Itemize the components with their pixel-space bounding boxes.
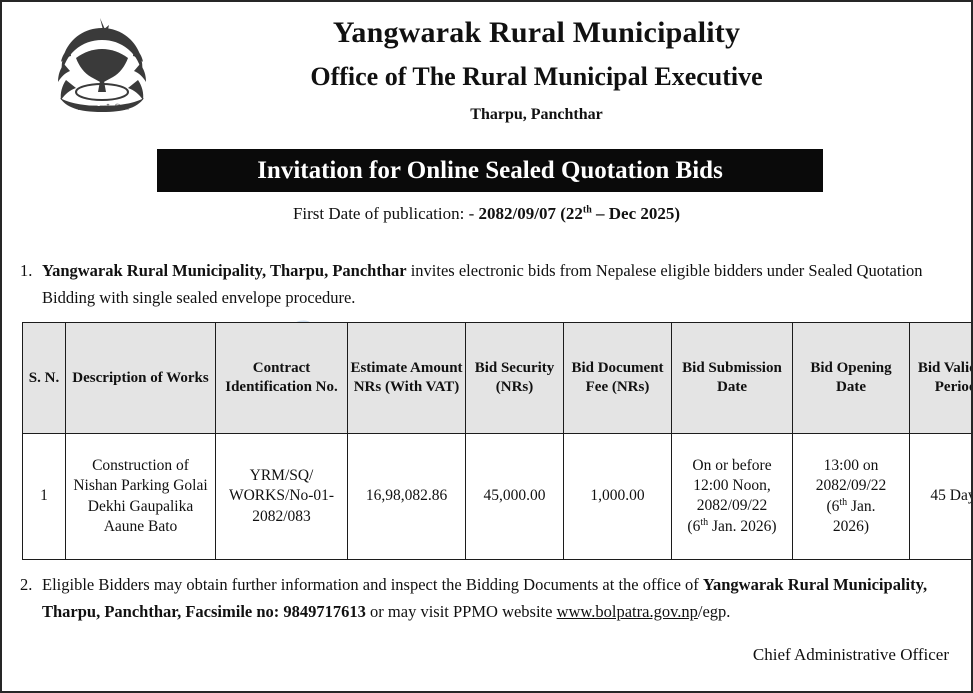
opening-line-1: 13:00 on (824, 457, 879, 474)
publication-date-bs: 2082/09/07 (22 (479, 204, 583, 223)
header-sn: S. N. (23, 323, 66, 434)
cell-document-fee: 1,000.00 (564, 434, 672, 560)
submission-line-1: On or before (692, 457, 771, 474)
submission-line-2: 12:00 Noon, (693, 477, 771, 494)
cell-sn: 1 (23, 434, 66, 560)
bids-table-wrapper: S. N. Description of Works Contract Iden… (22, 322, 957, 560)
organization-title: Yangwarak Rural Municipality (122, 16, 951, 50)
publication-label: First Date of publication: - (293, 204, 479, 223)
opening-line-4: 2026) (833, 518, 869, 535)
bids-table-head: S. N. Description of Works Contract Iden… (23, 323, 973, 434)
publication-date-line: First Date of publication: - 2082/09/07 … (2, 204, 971, 224)
clause-1: 1. Yangwarak Rural Municipality, Tharpu,… (2, 258, 952, 311)
document-page: बोलपत्र डटकम या (0, 0, 973, 693)
invitation-banner: Invitation for Online Sealed Quotation B… (157, 149, 823, 192)
header-document-fee: Bid Document Fee (NRs) (564, 323, 672, 434)
cell-description: Construction of Nishan Parking Golai Dek… (66, 434, 216, 560)
header-submission: Bid Submission Date (672, 323, 793, 434)
submission-line-4-post: Jan. 2026) (708, 518, 776, 535)
clause-1-number: 1. (2, 258, 42, 311)
bids-table-body: 1 Construction of Nishan Parking Golai D… (23, 434, 973, 560)
publication-ordinal: th (583, 204, 592, 215)
table-header-row: S. N. Description of Works Contract Iden… (23, 323, 973, 434)
cell-estimate: 16,98,082.86 (348, 434, 466, 560)
clause-2-text-mid: or may visit PPMO website (366, 602, 557, 621)
cell-opening-date: 13:00 on 2082/09/22 (6th Jan. 2026) (793, 434, 910, 560)
clause-1-bold-lead: Yangwarak Rural Municipality, Tharpu, Pa… (42, 261, 407, 280)
header-opening: Bid Opening Date (793, 323, 910, 434)
opening-ordinal: th (839, 497, 847, 508)
cell-bid-validity: 45 Days (910, 434, 973, 560)
clause-1-body: Yangwarak Rural Municipality, Tharpu, Pa… (42, 258, 952, 311)
cell-bid-security: 45,000.00 (466, 434, 564, 560)
header-contract-id: Contract Identification No. (216, 323, 348, 434)
submission-line-3: 2082/09/22 (697, 497, 768, 514)
clause-2-body: Eligible Bidders may obtain further info… (42, 572, 954, 625)
header-validity: Bid Validity Period (910, 323, 973, 434)
svg-text:याङवरक गाउँपालिका: याङवरक गाउँपालिका (75, 103, 129, 112)
clause-2-number: 2. (2, 572, 42, 625)
publication-date-ad: – Dec 2025) (592, 204, 680, 223)
submission-line-4-pre: (6 (687, 518, 700, 535)
cell-submission-date: On or before 12:00 Noon, 2082/09/22 (6th… (672, 434, 793, 560)
opening-line-2: 2082/09/22 (816, 477, 887, 494)
clause-2: 2. Eligible Bidders may obtain further i… (2, 572, 954, 625)
bids-table: S. N. Description of Works Contract Iden… (22, 322, 973, 560)
organization-subtitle: Office of The Rural Municipal Executive (122, 62, 951, 93)
nepal-government-emblem-icon: याङवरक गाउँपालिका (48, 14, 156, 126)
cell-contract-id: YRM/SQ/ WORKS/No-01-2082/083 (216, 434, 348, 560)
document-header: याङवरक गाउँपालिका Yangwarak Rural Munici… (2, 2, 971, 124)
signatory-title: Chief Administrative Officer (753, 645, 949, 665)
header-description: Description of Works (66, 323, 216, 434)
table-row: 1 Construction of Nishan Parking Golai D… (23, 434, 973, 560)
submission-ordinal: th (700, 517, 708, 528)
header-estimate: Estimate Amount NRs (With VAT) (348, 323, 466, 434)
opening-line-3-pre: (6 (826, 498, 839, 515)
invitation-banner-title: Invitation for Online Sealed Quotation B… (257, 157, 723, 185)
ppmo-website-link[interactable]: www.bolpatra.gov.np (557, 602, 698, 621)
clause-2-text-after: /egp. (698, 602, 731, 621)
header-bid-security: Bid Security (NRs) (466, 323, 564, 434)
opening-line-3-post: Jan. (847, 498, 875, 515)
organization-location: Tharpu, Panchthar (122, 106, 951, 124)
clause-2-text-before: Eligible Bidders may obtain further info… (42, 575, 703, 594)
